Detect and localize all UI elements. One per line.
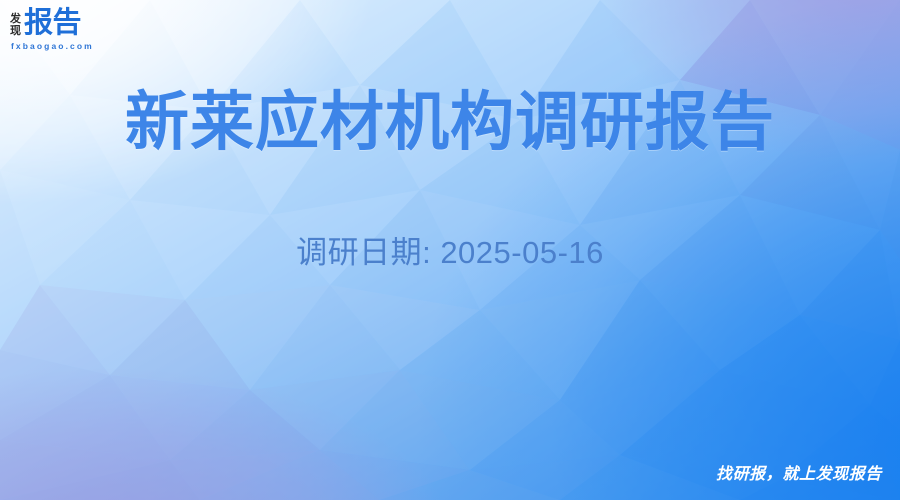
page-title: 新莱应材机构调研报告 (0, 86, 900, 158)
brand-logo[interactable]: 发 现 报告 fxbaogao.com (10, 9, 94, 51)
logo-wordmark: 报告 (24, 9, 81, 38)
logo-wordmark-row: 发 现 报告 (10, 9, 81, 38)
logo-url: fxbaogao.com (11, 41, 94, 51)
footer-slogan: 找研报，就上发现报告 (716, 464, 882, 486)
logo-stacked-bottom-char: 现 (10, 25, 21, 37)
survey-date-subtitle: 调研日期: 2025-05-16 (0, 232, 900, 274)
report-cover-slide: 发 现 报告 fxbaogao.com 新莱应材机构调研报告 调研日期: 202… (0, 0, 900, 500)
logo-stacked-top-char: 发 (10, 13, 21, 25)
logo-stacked-characters: 发 现 (10, 13, 21, 38)
title-block: 新莱应材机构调研报告 (0, 86, 900, 158)
